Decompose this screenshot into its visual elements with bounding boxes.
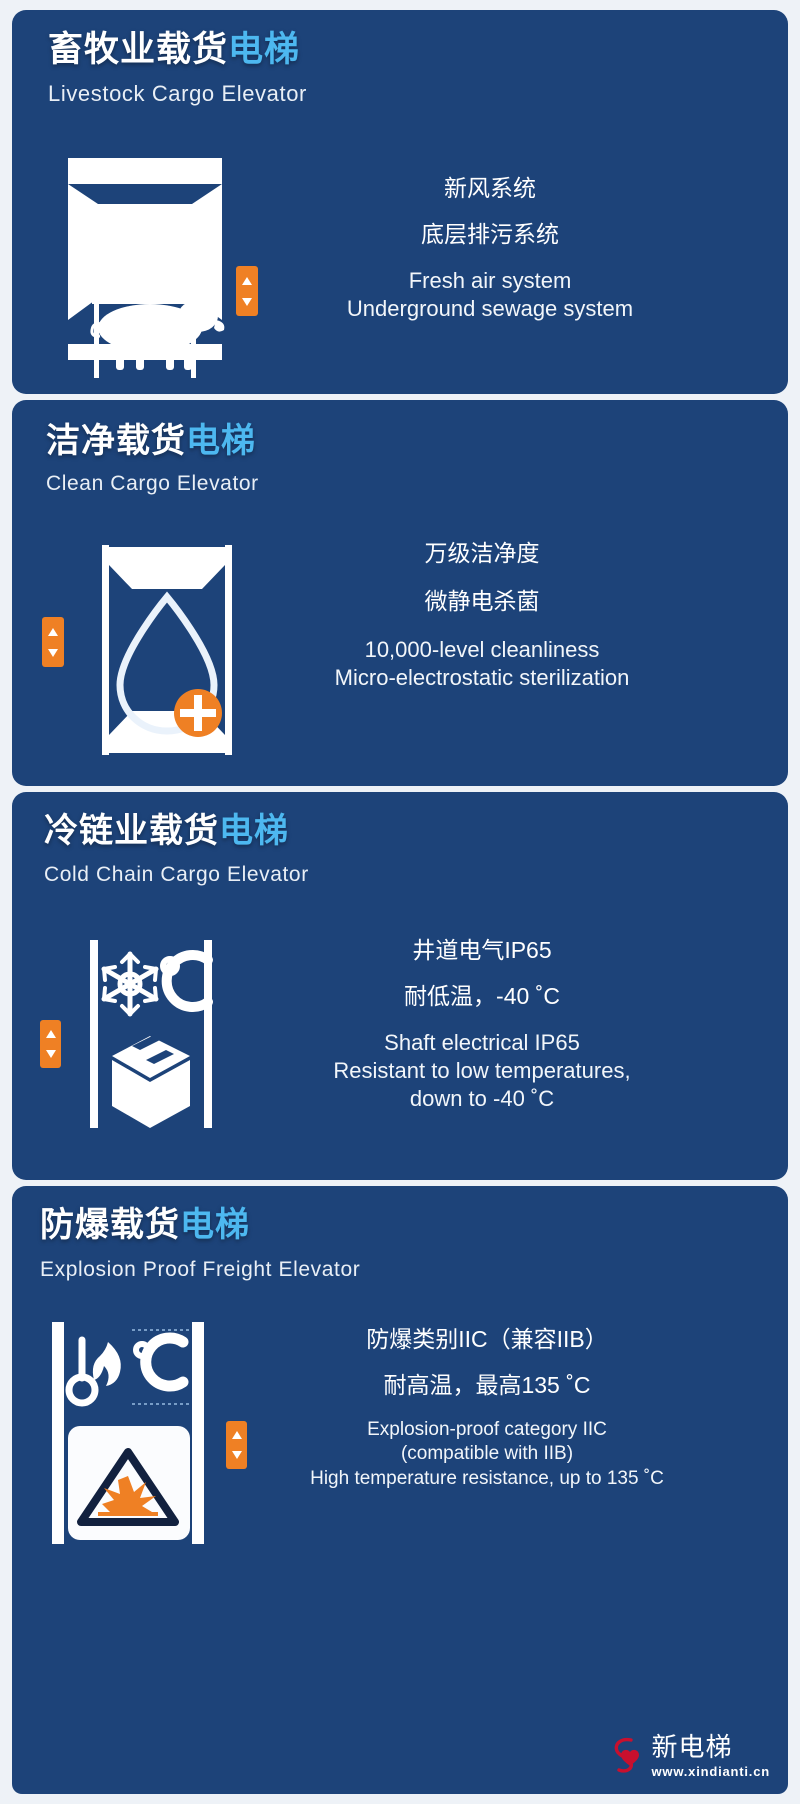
section-card-livestock: 畜牧业载货电梯 Livestock Cargo Elevator (12, 10, 788, 394)
title-cn-white: 洁净载货 (46, 422, 186, 460)
xindianti-logo-icon (605, 1734, 645, 1778)
feature-cn-0: 新风系统 (280, 175, 700, 201)
title-cn-blue: 电梯 (219, 812, 289, 850)
explosion-proof-elevator-icon (40, 1316, 270, 1556)
feature-en-2: High temperature resistance, up to 135 ˚… (262, 1468, 712, 1490)
page-title-en: Livestock Cargo Elevator (48, 81, 307, 107)
feature-en-1: (compatible with IIB) (262, 1443, 712, 1465)
feature-en-1: Resistant to low temperatures, (262, 1058, 702, 1084)
feature-en-1: Underground sewage system (280, 296, 700, 322)
watermark-url: www.xindianti.cn (652, 1765, 771, 1778)
title-cn-white: 防爆载货 (40, 1206, 180, 1244)
clean-elevator-icon (42, 535, 257, 765)
feature-en-0: Fresh air system (280, 268, 700, 294)
arrow-down-icon (46, 1050, 56, 1058)
title-cn-blue: 电梯 (228, 30, 300, 69)
livestock-elevator-icon (50, 148, 275, 378)
heading-group: 畜牧业载货电梯 Livestock Cargo Elevator (48, 32, 307, 107)
feature-cn-0: 防爆类别IIC（兼容IIB） (262, 1326, 712, 1352)
section-card-clean: 洁净载货电梯 Clean Cargo Elevator (12, 400, 788, 786)
section-card-cold-chain: 冷链业载货电梯 Cold Chain Cargo Elevator (12, 792, 788, 1180)
watermark: 新电梯 www.xindianti.cn (605, 1734, 771, 1778)
feature-en-2: down to -40 ˚C (262, 1086, 702, 1112)
feature-cn-1: 耐低温，-40 ˚C (262, 983, 702, 1009)
title-cn-blue: 电梯 (180, 1206, 250, 1244)
heading-group: 冷链业载货电梯 Cold Chain Cargo Elevator (44, 814, 309, 887)
feature-list: 井道电气IP65 耐低温，-40 ˚C Shaft electrical IP6… (262, 937, 702, 1112)
heading-group: 防爆载货电梯 Explosion Proof Freight Elevator (40, 1208, 360, 1282)
arrow-up-icon (242, 277, 252, 285)
watermark-text: 新电梯 www.xindianti.cn (652, 1734, 771, 1778)
infographic-page: 畜牧业载货电梯 Livestock Cargo Elevator (0, 0, 800, 1804)
page-title-en: Cold Chain Cargo Elevator (44, 863, 309, 887)
feature-cn-0: 万级洁净度 (262, 540, 702, 566)
title-cn-white: 畜牧业载货 (48, 30, 228, 69)
feature-en-0: Explosion-proof category IIC (262, 1419, 712, 1441)
arrow-up-icon (46, 1030, 56, 1038)
page-title-cn: 洁净载货电梯 (46, 424, 259, 460)
cold-chain-elevator-icon (40, 932, 260, 1167)
elevator-call-button[interactable] (236, 266, 258, 316)
page-title-en: Clean Cargo Elevator (46, 472, 259, 496)
page-title-cn: 防爆载货电梯 (40, 1208, 360, 1244)
title-cn-white: 冷链业载货 (44, 812, 219, 850)
feature-en-0: Shaft electrical IP65 (262, 1030, 702, 1056)
feature-en-0: 10,000-level cleanliness (262, 637, 702, 663)
page-title-cn: 畜牧业载货电梯 (48, 32, 307, 69)
elevator-call-button[interactable] (40, 1020, 61, 1068)
feature-list: 防爆类别IIC（兼容IIB） 耐高温，最高135 ˚C Explosion-pr… (262, 1326, 712, 1490)
arrow-down-icon (242, 298, 252, 306)
page-title-cn: 冷链业载货电梯 (44, 814, 309, 850)
title-cn-blue: 电梯 (186, 422, 256, 460)
feature-cn-0: 井道电气IP65 (262, 937, 702, 963)
feature-cn-1: 微静电杀菌 (262, 588, 702, 614)
clean-elevator-svg (42, 535, 257, 765)
watermark-brand: 新电梯 (652, 1734, 733, 1760)
cold-chain-elevator-svg (40, 932, 260, 1167)
section-card-explosion-proof: 防爆载货电梯 Explosion Proof Freight Elevator (12, 1186, 788, 1794)
elevator-call-button[interactable] (226, 1421, 247, 1469)
page-title-en: Explosion Proof Freight Elevator (40, 1258, 360, 1282)
feature-list: 万级洁净度 微静电杀菌 10,000-level cleanliness Mic… (262, 540, 702, 691)
arrow-down-icon (48, 649, 58, 657)
heading-group: 洁净载货电梯 Clean Cargo Elevator (46, 424, 259, 496)
feature-list: 新风系统 底层排污系统 Fresh air system Underground… (280, 175, 700, 322)
arrow-up-icon (232, 1431, 242, 1439)
feature-en-1: Micro-electrostatic sterilization (262, 665, 702, 691)
feature-cn-1: 底层排污系统 (280, 221, 700, 247)
elevator-call-button[interactable] (42, 617, 64, 667)
livestock-elevator-svg (50, 148, 275, 378)
arrow-up-icon (48, 628, 58, 636)
arrow-down-icon (232, 1451, 242, 1459)
feature-cn-1: 耐高温，最高135 ˚C (262, 1372, 712, 1398)
